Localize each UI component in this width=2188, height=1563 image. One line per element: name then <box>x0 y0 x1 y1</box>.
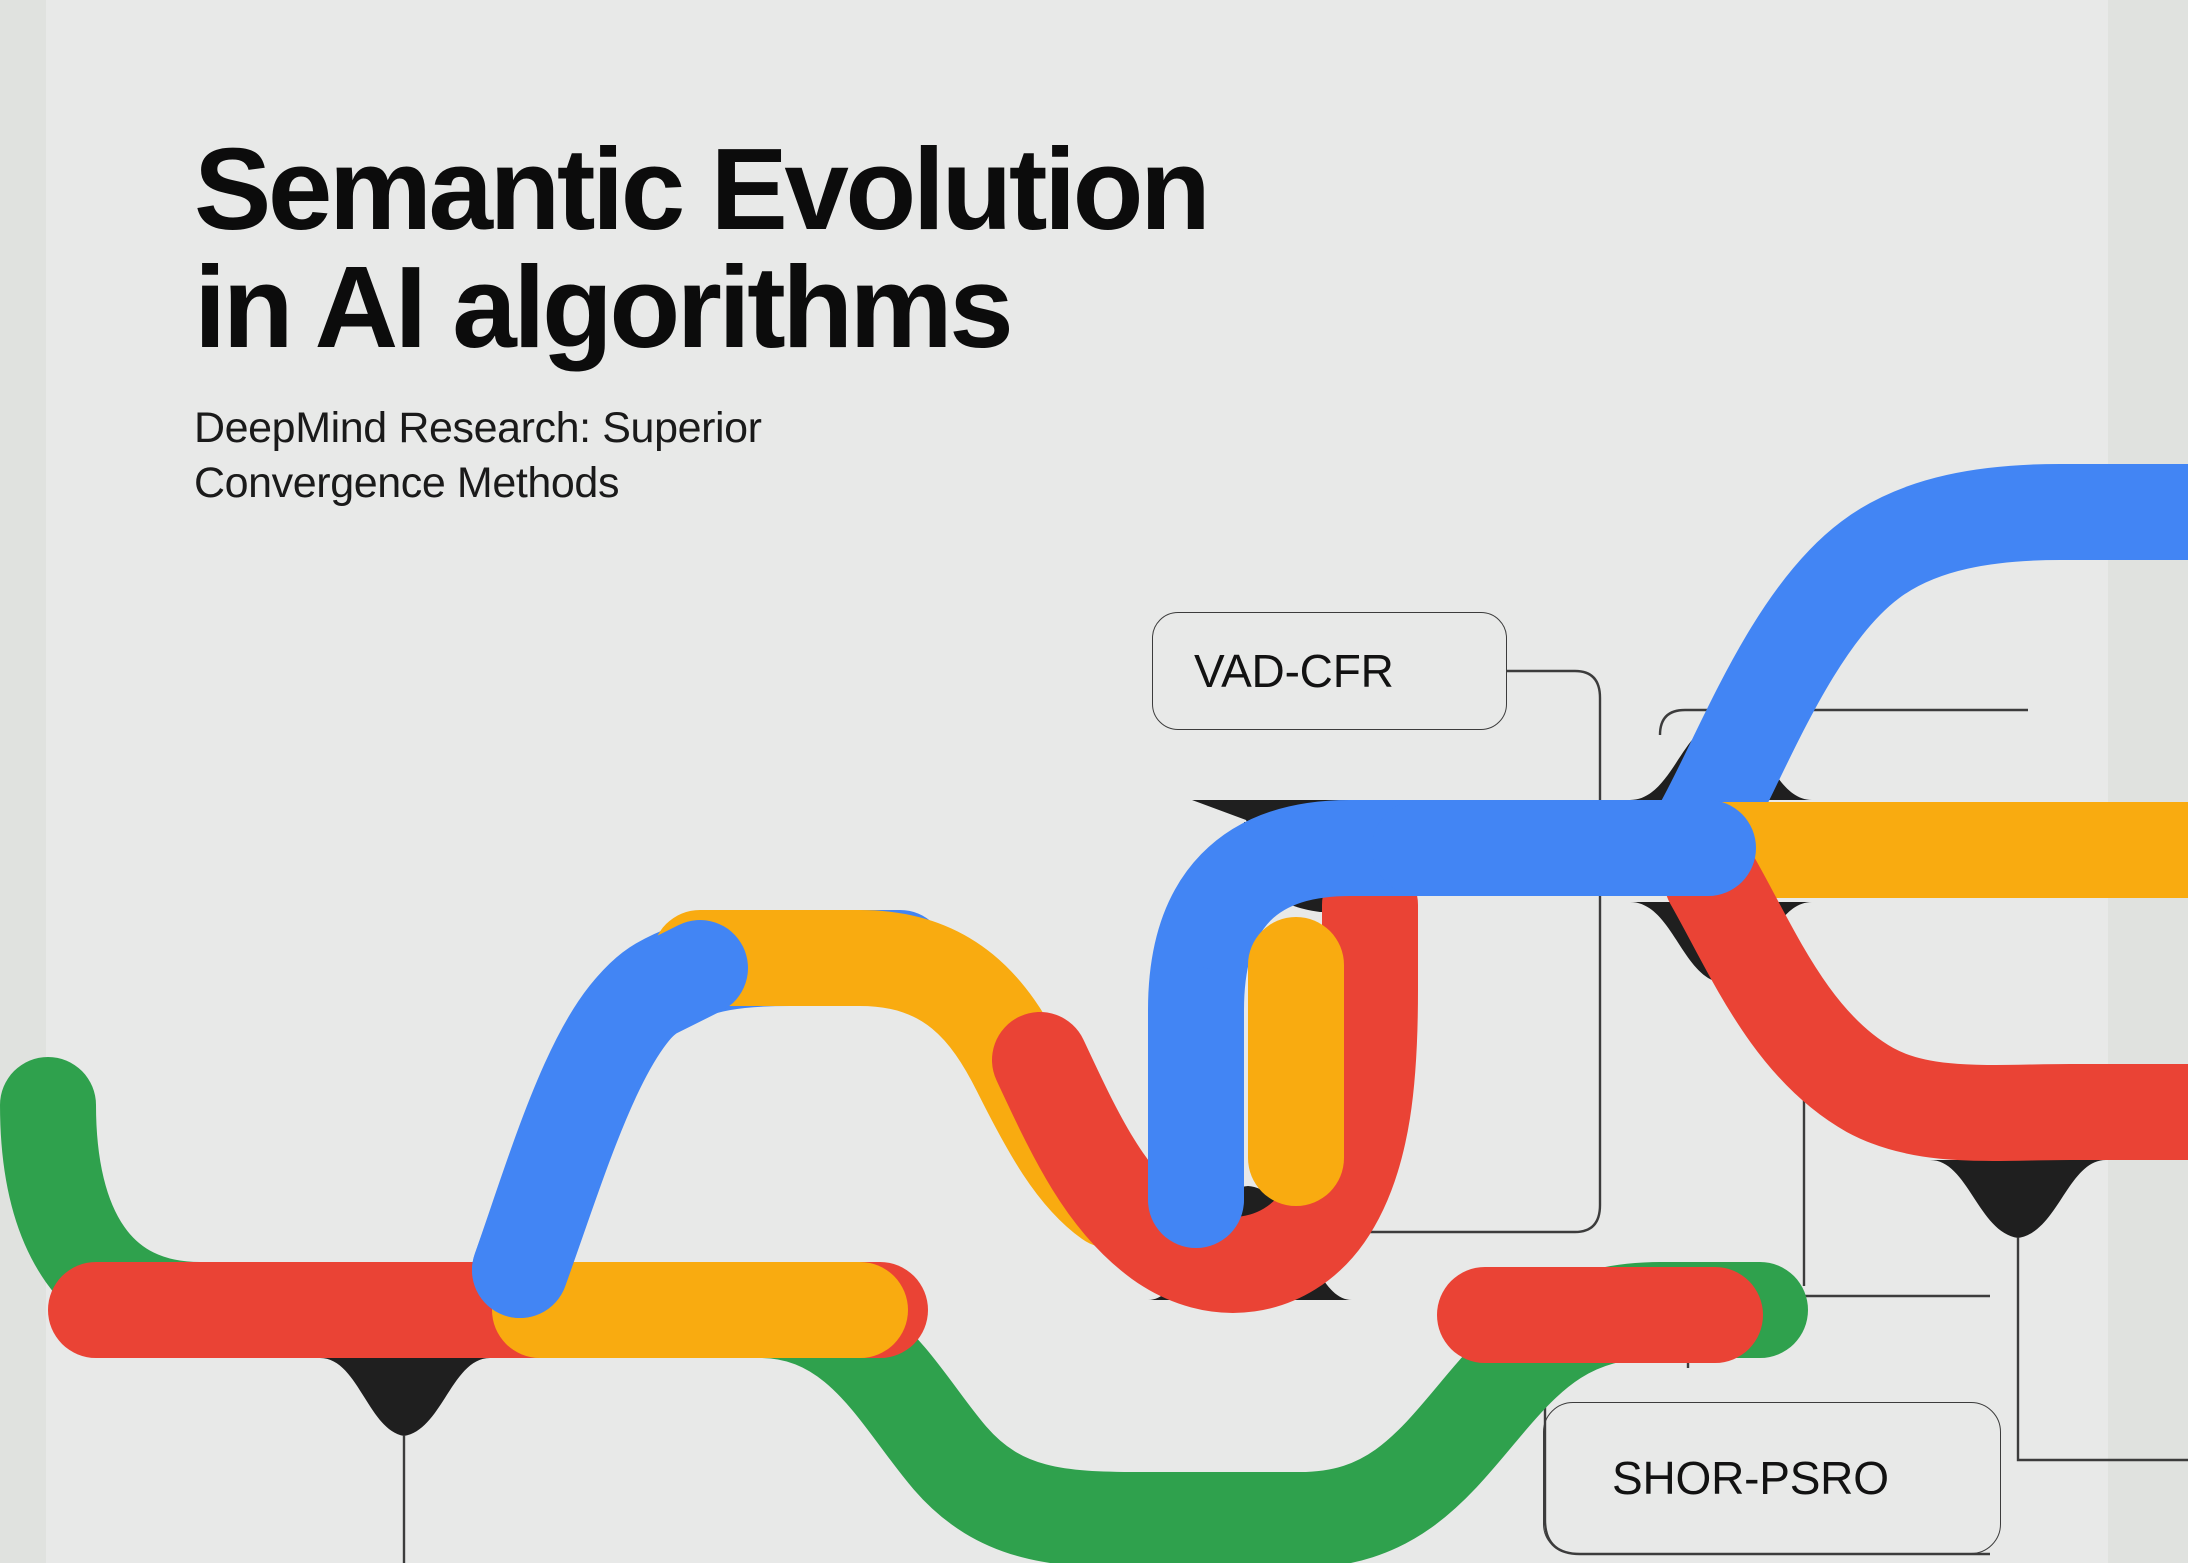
connector-red-drop <box>2018 1238 2188 1460</box>
ribbon-red-right <box>1712 880 2188 1113</box>
page-subtitle: DeepMind Research: Superior Convergence … <box>194 401 1494 511</box>
page-title: Semantic Evolution in AI algorithms <box>194 130 1494 367</box>
callout-chip-vad-cfr[interactable]: VAD-CFR <box>1152 612 1507 730</box>
ribbon-blue-up <box>1700 512 2188 830</box>
callout-label-vad-cfr: VAD-CFR <box>1194 644 1394 698</box>
fillet-red-drop <box>1930 1160 2106 1238</box>
fillet-red-bar-drop <box>320 1358 490 1436</box>
callout-chip-shor-psro[interactable]: SHOR-PSRO <box>1543 1402 2001 1554</box>
ribbon-blue-hill-overlap <box>520 968 700 1270</box>
poster-canvas: Semantic Evolution in AI algorithms Deep… <box>0 0 2188 1563</box>
header-text-block: Semantic Evolution in AI algorithms Deep… <box>194 130 1494 511</box>
callout-label-shor-psro: SHOR-PSRO <box>1612 1451 1889 1505</box>
